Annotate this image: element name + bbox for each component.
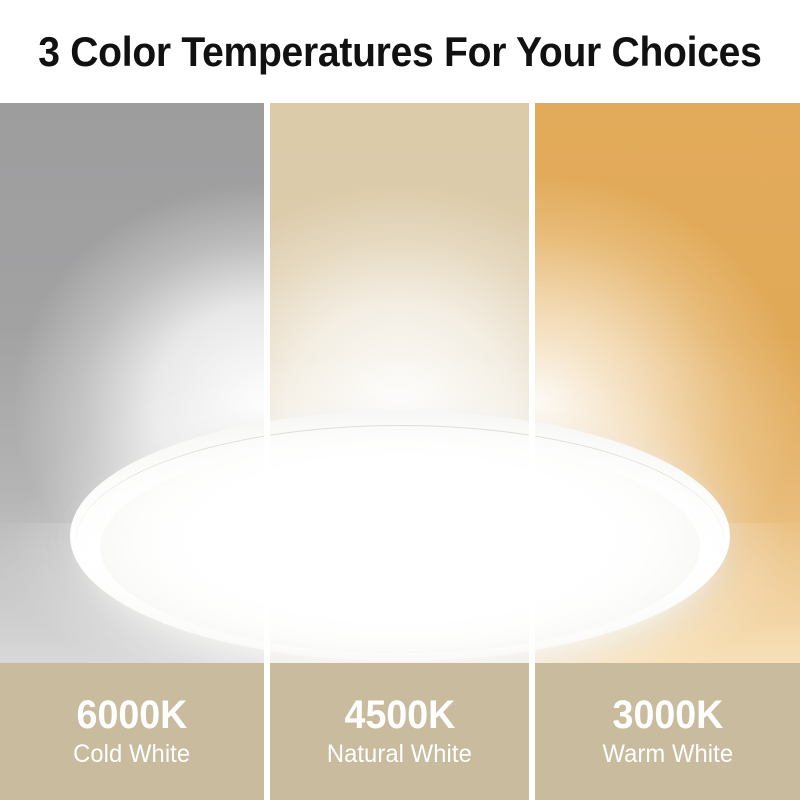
kelvin-value-cold: 6000K	[77, 695, 188, 735]
page-title: 3 Color Temperatures For Your Choices	[38, 28, 761, 76]
label-cell-cold-white: 6000K Cold White	[0, 663, 264, 800]
kelvin-value-natural: 4500K	[344, 695, 455, 735]
panel-divider-right	[529, 103, 535, 663]
kelvin-value-warm: 3000K	[612, 695, 723, 735]
header-banner: 3 Color Temperatures For Your Choices	[0, 0, 800, 103]
color-temperature-name-cold: Cold White	[73, 741, 190, 769]
label-cell-natural-white: 4500K Natural White	[270, 663, 529, 800]
panel-divider-left	[264, 103, 270, 663]
color-temperature-name-natural: Natural White	[327, 741, 472, 769]
scene-panel-cold-white	[0, 103, 264, 663]
label-cell-warm-white: 3000K Warm White	[535, 663, 800, 800]
product-color-temperature-infographic: 3 Color Temperatures For Your Choices 60…	[0, 0, 800, 800]
color-temperature-label-bar: 6000K Cold White 4500K Natural White 300…	[0, 663, 800, 800]
scene-panel-warm-white	[535, 103, 800, 663]
scene-panel-natural-white	[270, 103, 529, 663]
product-scene	[0, 103, 800, 663]
color-temperature-name-warm: Warm White	[602, 741, 733, 769]
